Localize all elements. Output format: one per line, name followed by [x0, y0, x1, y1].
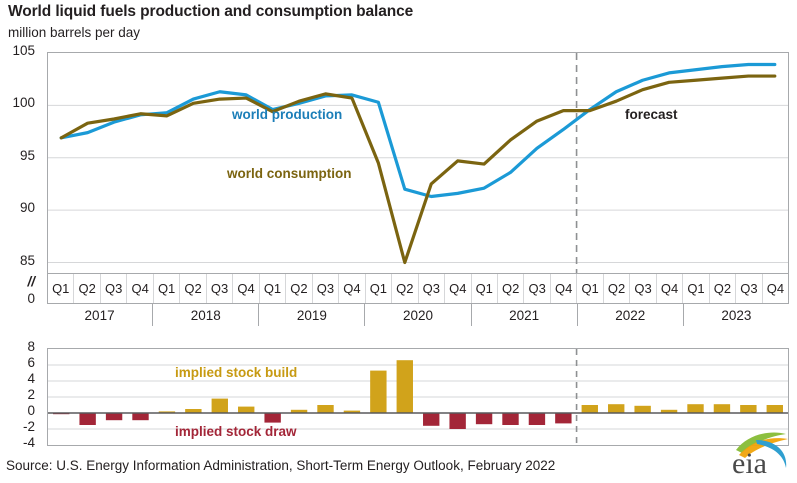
chart-units-subtitle: million barrels per day — [8, 25, 140, 40]
x-tick-quarter: Q2 — [74, 274, 100, 303]
x-tick-quarter: Q4 — [445, 274, 471, 303]
x-tick-quarter: Q3 — [736, 274, 762, 303]
x-tick-quarter: Q1 — [154, 274, 180, 303]
y-axis-break-marker: // — [0, 274, 35, 289]
x-tick-quarter: Q4 — [763, 274, 788, 303]
line-plot-area — [47, 52, 789, 274]
x-tick-quarter: Q4 — [127, 274, 153, 303]
y-tick-label: -4 — [0, 436, 35, 450]
x-tick-quarter: Q3 — [419, 274, 445, 303]
y-tick-label: 4 — [0, 372, 35, 386]
x-tick-year: 2023 — [684, 304, 789, 326]
bar-chart-svg — [48, 349, 788, 445]
x-axis-quarter-labels: Q1Q2Q3Q4Q1Q2Q3Q4Q1Q2Q3Q4Q1Q2Q3Q4Q1Q2Q3Q4… — [47, 274, 789, 304]
y-tick-label: 105 — [0, 44, 35, 58]
y-tick-label: 100 — [0, 96, 35, 110]
bar-plot-area — [47, 348, 789, 446]
x-axis: Q1Q2Q3Q4Q1Q2Q3Q4Q1Q2Q3Q4Q1Q2Q3Q4Q1Q2Q3Q4… — [47, 274, 789, 326]
x-tick-quarter: Q2 — [710, 274, 736, 303]
chart-page: World liquid fuels production and consum… — [0, 0, 797, 483]
x-tick-quarter: Q1 — [48, 274, 74, 303]
series-label-world-production: world production — [232, 107, 342, 122]
x-tick-quarter: Q2 — [286, 274, 312, 303]
y-tick-label: 90 — [0, 201, 35, 215]
production-consumption-line-chart: world production world consumption forec… — [47, 52, 789, 274]
x-tick-quarter: Q2 — [498, 274, 524, 303]
series-label-implied-stock-draw: implied stock draw — [175, 424, 297, 439]
series-label-implied-stock-build: implied stock build — [175, 365, 297, 380]
x-tick-quarter: Q2 — [180, 274, 206, 303]
x-tick-quarter: Q3 — [524, 274, 550, 303]
forecast-annotation-label: forecast — [625, 107, 678, 122]
line-chart-svg — [48, 53, 788, 273]
x-tick-quarter: Q3 — [207, 274, 233, 303]
x-tick-quarter: Q3 — [630, 274, 656, 303]
x-tick-quarter: Q4 — [233, 274, 259, 303]
x-tick-year: 2020 — [365, 304, 471, 326]
y-tick-label: 6 — [0, 356, 35, 370]
x-tick-year: 2022 — [578, 304, 684, 326]
y-tick-label: 85 — [0, 254, 35, 268]
x-axis-year-labels: 2017201820192020202120222023 — [47, 304, 789, 326]
x-tick-quarter: Q2 — [604, 274, 630, 303]
y-tick-label: 95 — [0, 149, 35, 163]
x-tick-quarter: Q1 — [366, 274, 392, 303]
series-label-world-consumption: world consumption — [227, 166, 352, 181]
x-tick-quarter: Q1 — [260, 274, 286, 303]
x-tick-quarter: Q2 — [392, 274, 418, 303]
x-tick-year: 2018 — [153, 304, 259, 326]
x-tick-year: 2019 — [259, 304, 365, 326]
x-tick-quarter: Q3 — [101, 274, 127, 303]
x-tick-quarter: Q1 — [577, 274, 603, 303]
x-tick-quarter: Q1 — [683, 274, 709, 303]
y-tick-label: -2 — [0, 420, 35, 434]
y-tick-label: 0 — [0, 404, 35, 418]
x-tick-quarter: Q1 — [472, 274, 498, 303]
y-tick-label: 2 — [0, 388, 35, 402]
page-title: World liquid fuels production and consum… — [8, 3, 413, 21]
x-tick-quarter: Q3 — [313, 274, 339, 303]
x-tick-quarter: Q4 — [551, 274, 577, 303]
x-tick-year: 2021 — [472, 304, 578, 326]
implied-stock-change-bar-chart: implied stock build implied stock draw 8… — [47, 348, 789, 446]
x-tick-year: 2017 — [47, 304, 153, 326]
y-tick-label: 8 — [0, 340, 35, 354]
eia-logo: eia — [726, 428, 792, 478]
y-tick-label-zero: 0 — [0, 292, 35, 306]
source-note: Source: U.S. Energy Information Administ… — [6, 458, 555, 473]
eia-logo-text: eia — [732, 447, 767, 478]
x-tick-quarter: Q4 — [339, 274, 365, 303]
x-tick-quarter: Q4 — [657, 274, 683, 303]
